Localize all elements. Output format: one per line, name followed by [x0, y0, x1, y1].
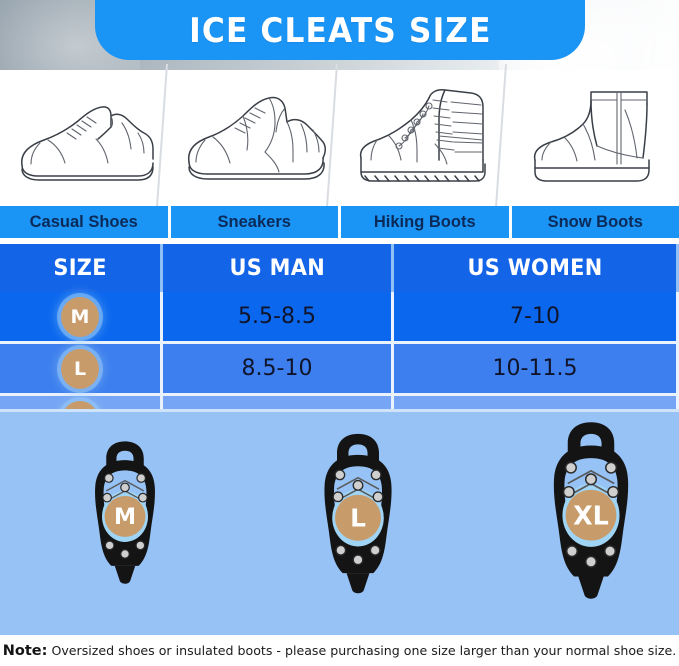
- title-plate: ICE CLEATS SIZE: [95, 0, 585, 60]
- ice-cleat-icon: XL: [538, 418, 644, 604]
- product-cleat-m: M: [82, 438, 168, 593]
- ice-cleat-icon: L: [310, 430, 406, 598]
- category-label-sneakers: Sneakers: [171, 206, 342, 238]
- size-chart-page: ICE CLEATS SIZE: [0, 0, 679, 666]
- us-man-value: 8.5-10: [242, 356, 313, 381]
- status-badge: M: [61, 297, 99, 337]
- shoe-illustration-strip: [0, 70, 679, 206]
- ice-cleat-icon: M: [82, 438, 168, 588]
- us-man-cell: 8.5-10: [163, 344, 394, 393]
- shoe-panel-sneakers: [170, 70, 340, 206]
- shoe-panel-snow-boots: [509, 70, 679, 206]
- category-label-casual-shoes: Casual Shoes: [0, 206, 171, 238]
- shoe-category-label-row: Casual Shoes Sneakers Hiking Boots Snow …: [0, 206, 679, 238]
- table-header-us-man: US MAN: [163, 244, 394, 292]
- product-size-label: XL: [573, 501, 609, 531]
- casual-shoe-icon: [10, 83, 160, 193]
- table-header-us-man-label: US MAN: [229, 256, 324, 281]
- table-row: M 5.5-8.5 7-10: [0, 292, 679, 344]
- us-man-cell: 5.5-8.5: [163, 292, 394, 341]
- table-row: L 8.5-10 10-11.5: [0, 344, 679, 396]
- table-header-size: SIZE: [0, 244, 163, 292]
- shoe-panel-hiking-boots: [340, 70, 510, 206]
- table-header-row: SIZE US MAN US WOMEN: [0, 244, 679, 292]
- us-man-value: 5.5-8.5: [238, 304, 316, 329]
- snow-boot-icon: [521, 80, 667, 196]
- us-women-value: 10-11.5: [493, 356, 578, 381]
- product-cleat-xl: XL: [538, 418, 644, 609]
- table-header-size-label: SIZE: [53, 256, 106, 281]
- product-showcase: M: [0, 409, 679, 635]
- product-cleat-l: L: [310, 430, 406, 603]
- status-badge: L: [61, 349, 99, 389]
- sneaker-icon: [179, 82, 331, 194]
- header-banner: ICE CLEATS SIZE: [0, 0, 679, 70]
- size-cell: L: [0, 344, 163, 393]
- note-bar: Note: Oversized shoes or insulated boots…: [0, 635, 679, 666]
- us-women-value: 7-10: [510, 304, 560, 329]
- us-women-cell: 7-10: [394, 292, 679, 341]
- note-text: Oversized shoes or insulated boots - ple…: [51, 643, 676, 658]
- table-header-us-women: US WOMEN: [394, 244, 679, 292]
- us-women-cell: 10-11.5: [394, 344, 679, 393]
- hiking-boot-icon: [349, 80, 499, 196]
- page-title: ICE CLEATS SIZE: [189, 11, 491, 51]
- note-label: Note:: [3, 643, 48, 659]
- category-label-hiking-boots: Hiking Boots: [341, 206, 512, 238]
- product-size-label: M: [114, 504, 136, 530]
- shoe-panel-casual-shoes: [0, 70, 170, 206]
- size-cell: M: [0, 292, 163, 341]
- category-label-snow-boots: Snow Boots: [512, 206, 679, 238]
- table-header-us-women-label: US WOMEN: [468, 256, 603, 281]
- product-size-label: L: [350, 503, 366, 532]
